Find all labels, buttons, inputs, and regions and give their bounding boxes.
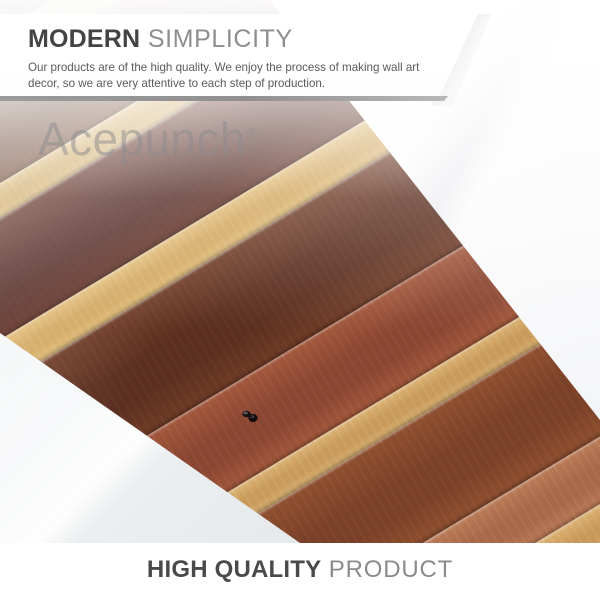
banner-divider-rule: [0, 96, 448, 101]
header-title-light: [140, 25, 148, 53]
header-title-light-text: SIMPLICITY: [148, 25, 293, 53]
footer-tagline-strong: HIGH QUALITY: [147, 556, 321, 583]
header-title: MODERN SIMPLICITY: [28, 27, 293, 52]
footer-tagline-space: [321, 556, 328, 583]
product-banner-canvas: Acepunch® MODERN SIMPLICITY Our products…: [0, 0, 600, 600]
footer-tagline-light: PRODUCT: [329, 556, 453, 583]
header-title-strong: MODERN: [28, 25, 140, 53]
footer-tagline: HIGH QUALITY PRODUCT: [0, 558, 600, 582]
footer-bar: HIGH QUALITY PRODUCT: [0, 543, 600, 600]
header-description: Our products are of the high quality. We…: [28, 60, 428, 93]
